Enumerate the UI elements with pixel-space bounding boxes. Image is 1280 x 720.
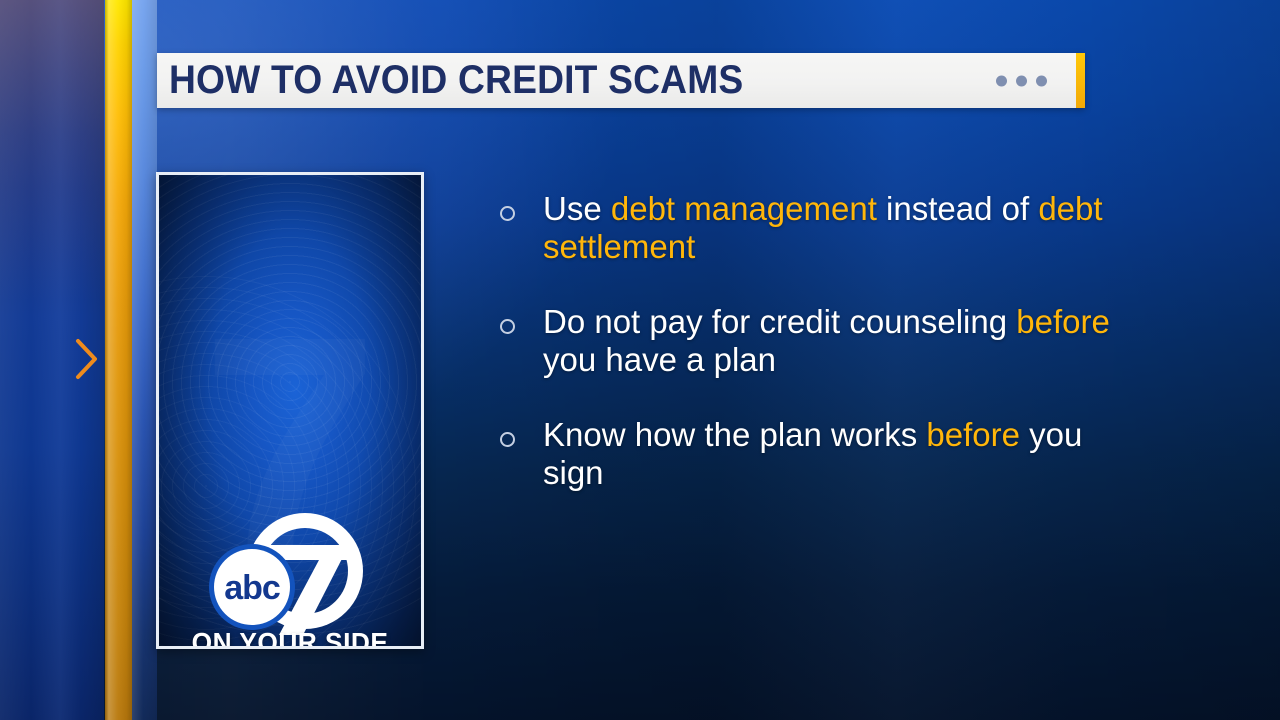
bullet-text-1: Use debt management instead of debt sett… [543,190,1110,265]
bullet-circle-icon [500,206,515,221]
title-bar-accent [1076,53,1085,108]
list-item: Do not pay for credit counseling before … [500,303,1110,378]
dot-2 [1016,75,1027,86]
blue-stripe-shading [132,0,157,720]
branding-tagline: ON YOUR SIDE [167,627,413,649]
seg-plain: you have a plan [543,341,776,378]
seg-plain: Know how the plan works [543,416,926,453]
dot-3 [1036,75,1047,86]
gold-stripe-shading [105,0,132,720]
overflow-menu-icon[interactable] [996,75,1047,86]
branding-panel: 7 [156,172,424,649]
svg-text:abc: abc [224,569,280,607]
title-bar: HOW TO AVOID CREDIT SCAMS [157,53,1085,108]
seg-plain: Use [543,190,611,227]
bullet-circle-icon [500,319,515,334]
seg-highlight: before [926,416,1020,453]
bullet-circle-icon [500,432,515,447]
abc7-logo-icon: abc [199,509,381,637]
list-item: Use debt management instead of debt sett… [500,190,1110,265]
bullet-text-3: Know how the plan works before you sign [543,416,1110,491]
page-title: HOW TO AVOID CREDIT SCAMS [169,58,743,103]
seg-plain: Do not pay for credit counseling [543,303,1016,340]
list-item: Know how the plan works before you sign [500,416,1110,491]
bullet-text-2: Do not pay for credit counseling before … [543,303,1110,378]
bullet-list: Use debt management instead of debt sett… [500,190,1110,530]
seg-plain: instead of [877,190,1038,227]
dot-1 [996,75,1007,86]
news-graphic-slide: HOW TO AVOID CREDIT SCAMS 7 [0,0,1280,720]
chevron-right-icon [74,338,100,380]
seg-highlight: before [1016,303,1110,340]
left-rail-top-tint [0,0,104,300]
seg-highlight: debt management [611,190,877,227]
